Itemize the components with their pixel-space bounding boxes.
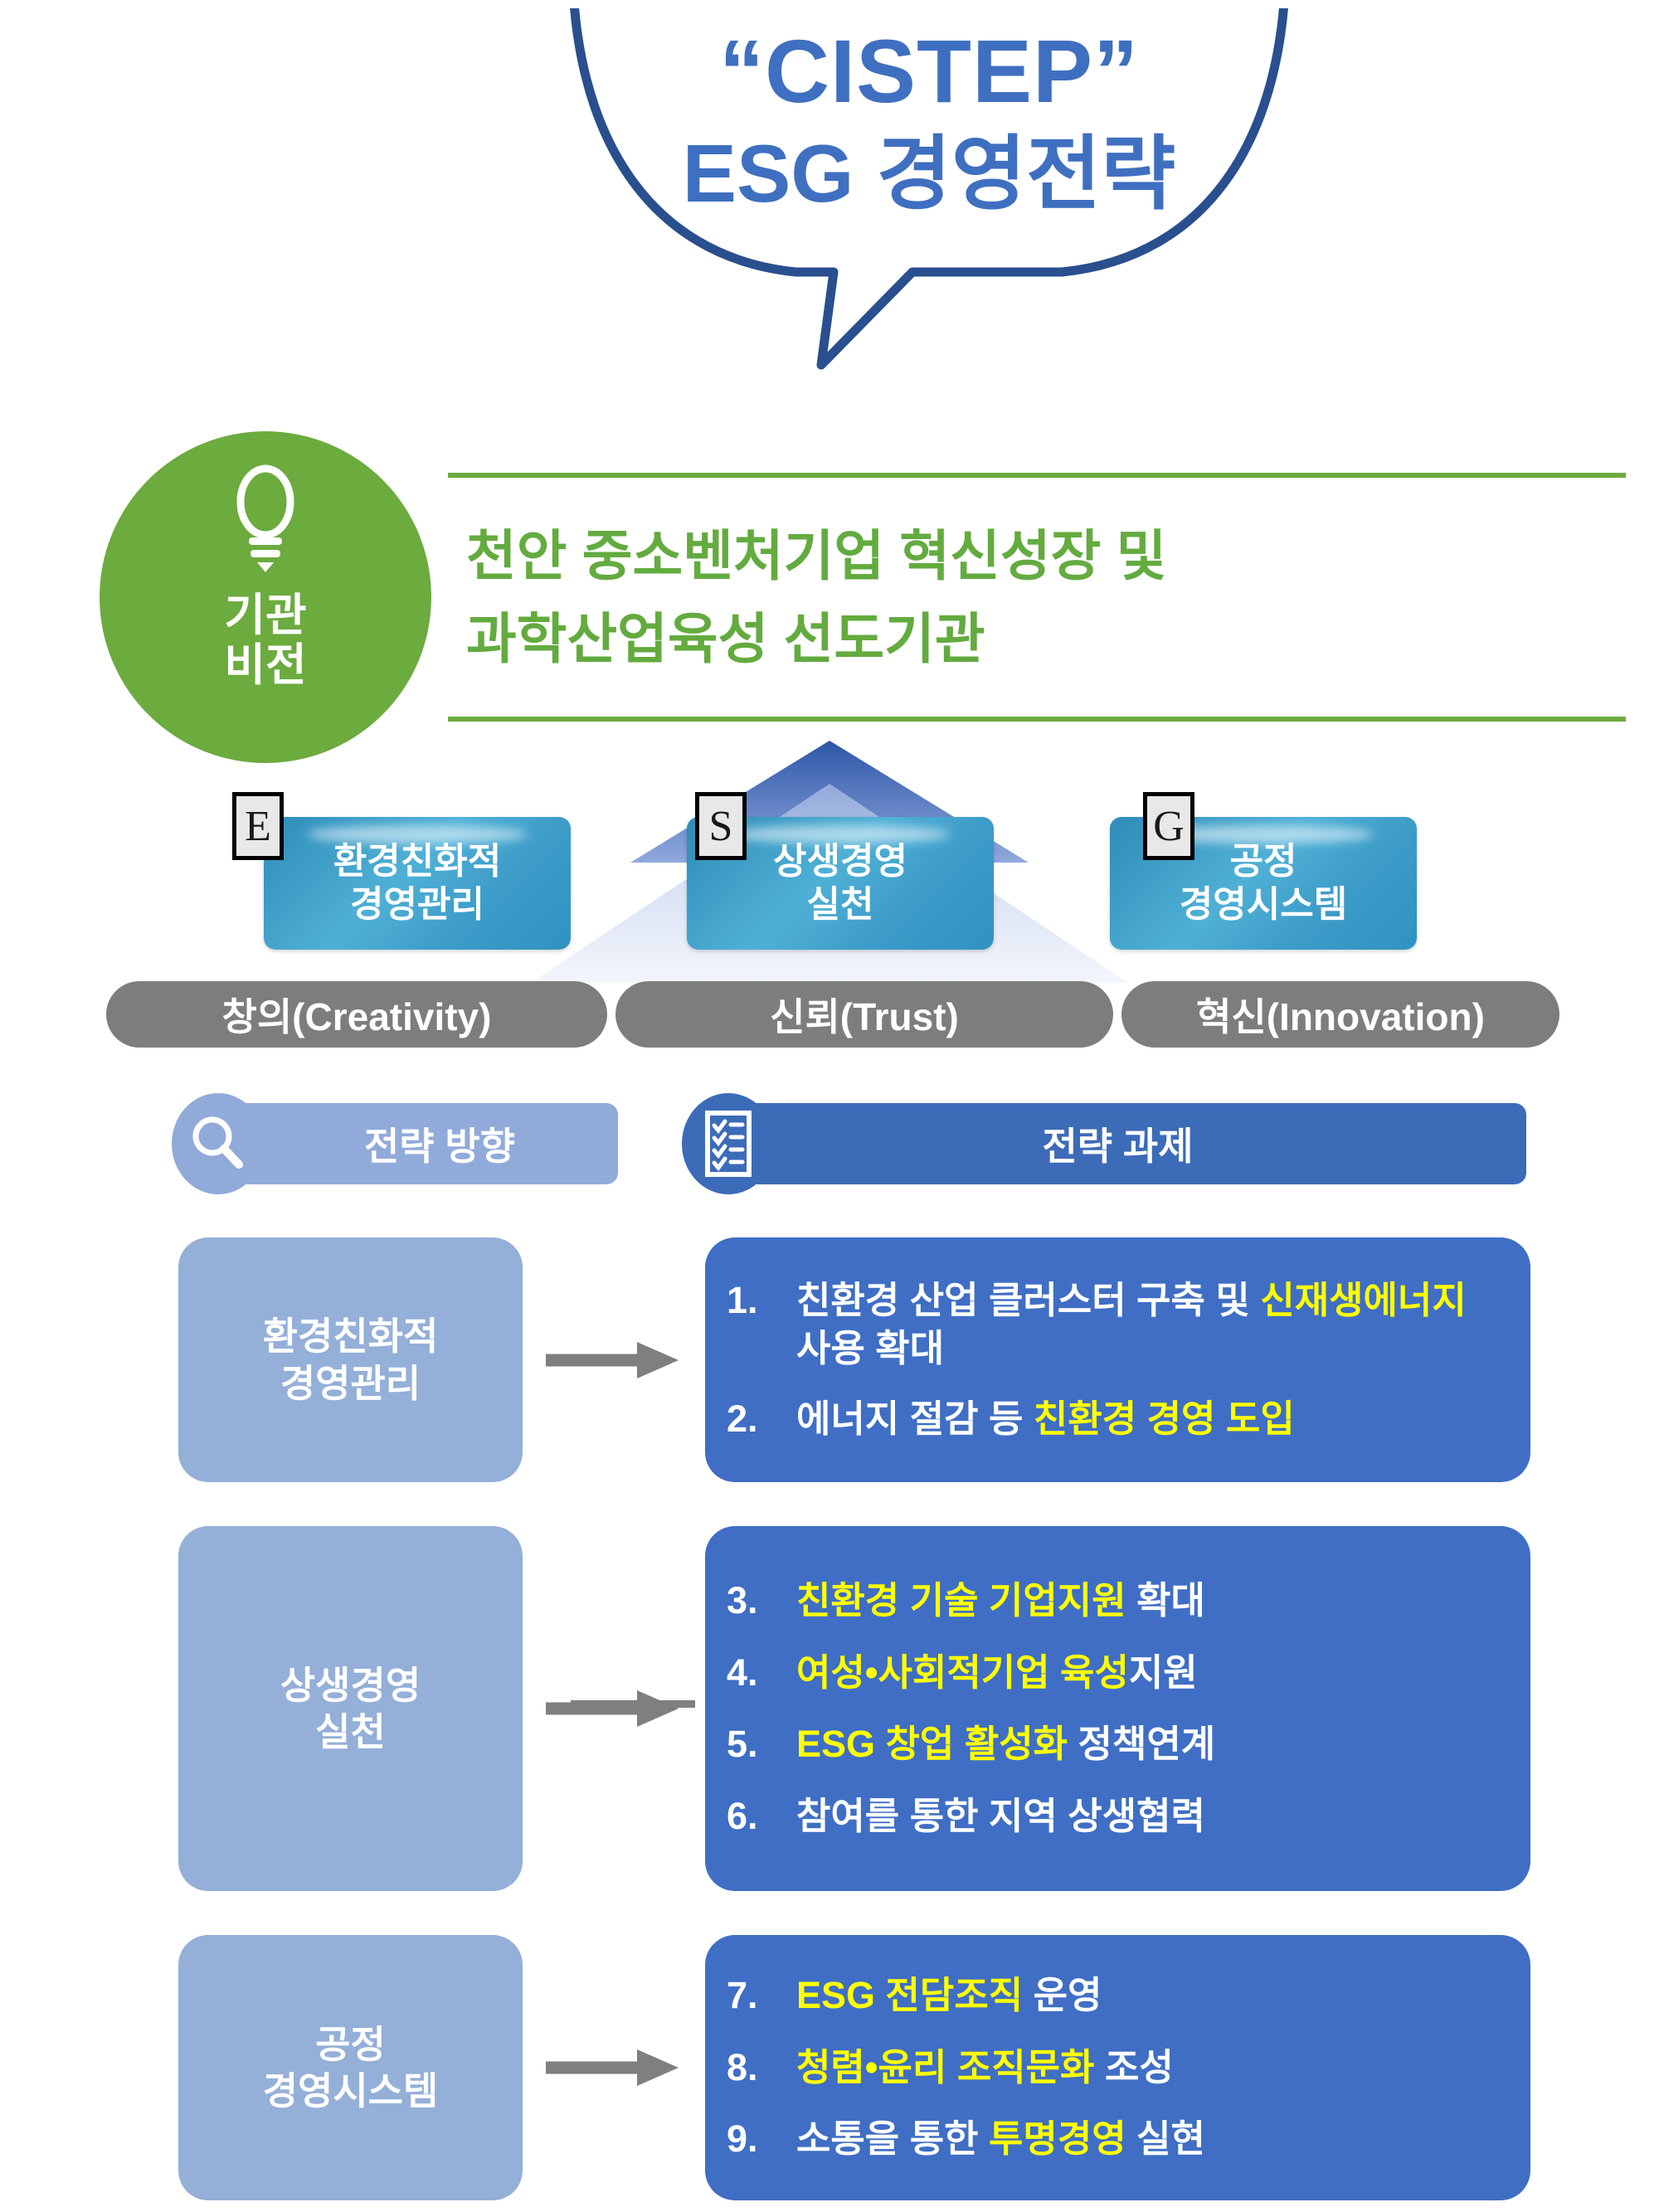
task-text-4: 여성•사회적기업 육성지원 (796, 1649, 1502, 1698)
core-value-creativity: 창의(Creativity) (106, 981, 607, 1048)
title-line-1: “CISTEP” (547, 23, 1311, 120)
direction-box-social-line2: 실천 (315, 1710, 386, 1753)
core-value-innovation: 혁신(Innovation) (1121, 981, 1559, 1048)
pillar-environment[interactable]: 환경친화적 경영관리 (264, 817, 571, 950)
badge-e: E (232, 792, 284, 860)
header-strategy-task-label: 전략 과제 (1042, 1116, 1193, 1171)
task-text-6: 참여를 통한 지역 상생협력 (796, 1792, 1502, 1841)
task-item-9: 9. 소통을 통한 투명경영 실현 (727, 2115, 1502, 2164)
task-text-8: 청렴•윤리 조직문화 조성 (796, 2044, 1502, 2093)
task-number-5: 5. (727, 1720, 796, 1769)
vision-badge: 기관 비전 (100, 431, 431, 763)
task-text-5: ESG 창업 활성화 정책연계 (796, 1720, 1502, 1769)
task-text-2: 에너지 절감 등 친환경 경영 도입 (796, 1395, 1502, 1444)
vision-statement: 천안 중소벤처기업 혁신성장 및 과학산업육성 선도기관 (448, 473, 1626, 722)
direction-box-social-line1: 상생경영 (280, 1664, 421, 1707)
arrow-icon-row-3 (539, 2043, 684, 2093)
task-box-governance[interactable]: 7. ESG 전담조직 운영 8. 청렴•윤리 조직문화 조성 9. 소통을 통… (705, 1935, 1530, 2200)
task-number-9: 9. (727, 2115, 796, 2164)
task-text-9: 소통을 통한 투명경영 실현 (796, 2115, 1502, 2164)
task-box-environment[interactable]: 1. 친환경 산업 클러스터 구축 및 신재생에너지 사용 확대 2. 에너지 … (705, 1237, 1530, 1482)
direction-box-governance[interactable]: 공정 경영시스템 (178, 1935, 523, 2200)
pillar-governance-line2: 경영시스템 (1180, 884, 1347, 925)
vision-badge-label: 기관 비전 (224, 591, 306, 691)
task-number-7: 7. (727, 1971, 796, 2020)
header-strategy-direction-label: 전략 방향 (314, 1116, 515, 1171)
pillar-environment-line1: 환경친화적 (333, 841, 501, 882)
title-speech-bubble: “CISTEP” ESG 경영전략 (547, 8, 1311, 431)
task-item-4: 4. 여성•사회적기업 육성지원 (727, 1649, 1502, 1698)
task-item-2: 2. 에너지 절감 등 친환경 경영 도입 (727, 1395, 1502, 1444)
magnifier-icon (172, 1093, 265, 1194)
esg-strategy-diagram: “CISTEP” ESG 경영전략 기관 비전 천안 중소벤처기업 혁신성장 및… (0, 0, 1659, 2212)
vision-badge-label-line1: 기관 (224, 591, 306, 640)
task-text-7: ESG 전담조직 운영 (796, 1971, 1502, 2020)
title-line-2: ESG 경영전략 (547, 130, 1311, 218)
core-value-trust: 신뢰(Trust) (615, 981, 1113, 1048)
arrow-icon-row-2 (539, 1684, 684, 1733)
direction-box-environment-line1: 환경친화적 (263, 1315, 439, 1358)
checklist-icon (682, 1093, 775, 1194)
direction-box-governance-line1: 공정 (315, 2023, 386, 2066)
direction-box-social[interactable]: 상생경영 실천 (178, 1526, 523, 1891)
direction-box-environment[interactable]: 환경친화적 경영관리 (178, 1237, 523, 1482)
task-item-8: 8. 청렴•윤리 조직문화 조성 (727, 2044, 1502, 2093)
task-box-social[interactable]: 3. 친환경 기술 기업지원 확대 4. 여성•사회적기업 육성지원 5. ES… (705, 1526, 1530, 1891)
arrow-icon-row-1 (539, 1335, 684, 1385)
pillar-social-line2: 실천 (807, 884, 874, 925)
task-number-4: 4. (727, 1649, 796, 1698)
pillar-environment-line2: 경영관리 (350, 884, 484, 925)
task-item-7: 7. ESG 전담조직 운영 (727, 1971, 1502, 2020)
task-number-3: 3. (727, 1577, 796, 1626)
vision-statement-line-1: 천안 중소벤처기업 혁신성장 및 (448, 514, 1626, 597)
task-text-1: 친환경 산업 클러스터 구축 및 신재생에너지 사용 확대 (796, 1276, 1502, 1373)
task-number-8: 8. (727, 2044, 796, 2093)
task-item-6: 6. 참여를 통한 지역 상생협력 (727, 1792, 1502, 1841)
page-title: “CISTEP” ESG 경영전략 (547, 23, 1311, 217)
vision-badge-label-line2: 비전 (224, 640, 306, 690)
header-strategy-task: 전략 과제 (709, 1103, 1526, 1184)
pillar-social-line1: 상생경영 (773, 841, 907, 882)
badge-s: S (695, 792, 747, 860)
badge-g: G (1143, 792, 1194, 860)
header-strategy-direction: 전략 방향 (212, 1103, 618, 1184)
task-number-1: 1. (727, 1276, 796, 1325)
task-item-1: 1. 친환경 산업 클러스터 구축 및 신재생에너지 사용 확대 (727, 1276, 1502, 1373)
lightbulb-icon (226, 464, 305, 572)
vision-statement-line-2: 과학산업육성 선도기관 (448, 597, 1626, 680)
task-text-3: 친환경 기술 기업지원 확대 (796, 1577, 1502, 1626)
task-number-2: 2. (727, 1395, 796, 1444)
task-item-5: 5. ESG 창업 활성화 정책연계 (727, 1720, 1502, 1769)
pillar-governance-line1: 공정 (1230, 841, 1297, 882)
task-item-3: 3. 친환경 기술 기업지원 확대 (727, 1577, 1502, 1626)
direction-box-governance-line2: 경영시스템 (263, 2069, 439, 2112)
direction-box-environment-line2: 경영관리 (280, 1362, 421, 1405)
task-number-6: 6. (727, 1792, 796, 1841)
